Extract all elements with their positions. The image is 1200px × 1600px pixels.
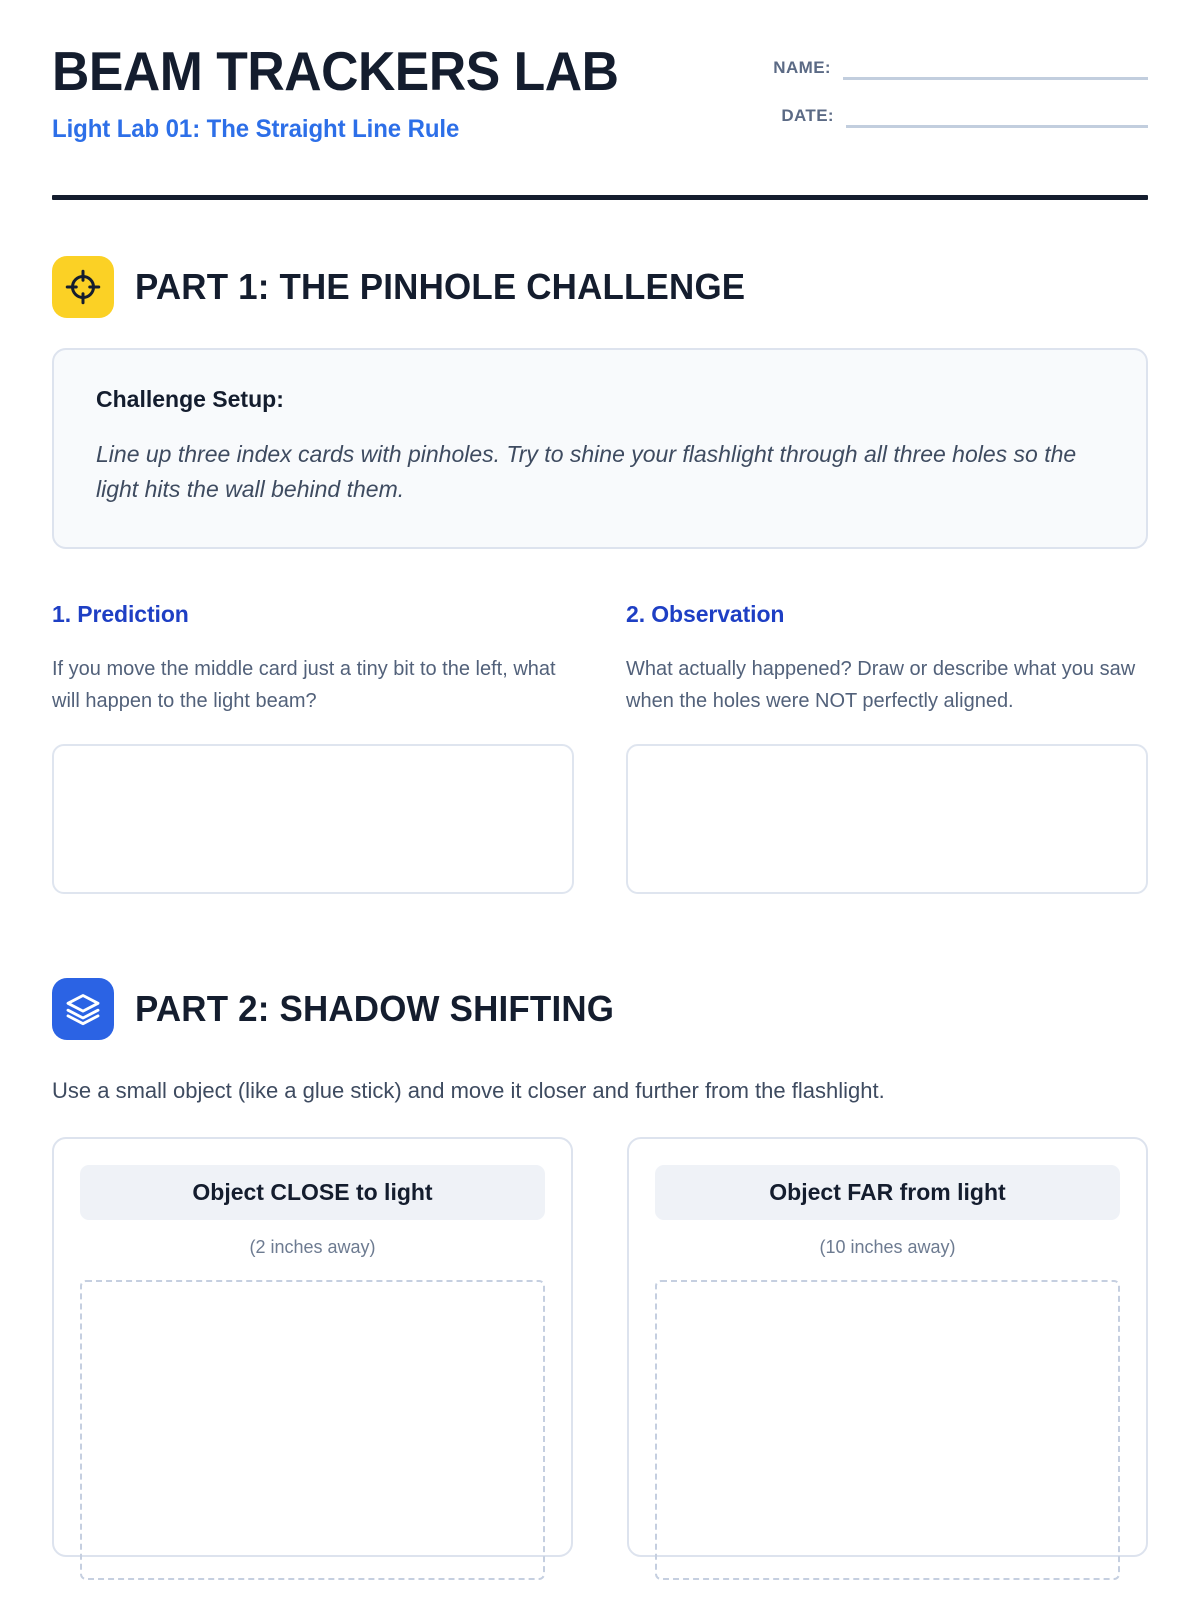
prediction-prompt: If you move the middle card just a tiny …: [52, 654, 574, 717]
name-input-line[interactable]: [843, 77, 1148, 80]
part1-question-grid: 1. Prediction If you move the middle car…: [52, 601, 1148, 894]
challenge-setup-label: Challenge Setup:: [96, 386, 1104, 413]
part2-heading: PART 2: SHADOW SHIFTING: [135, 988, 614, 1030]
observation-title: 2. Observation: [626, 601, 1148, 628]
prediction-title: 1. Prediction: [52, 601, 574, 628]
observation-answer-box[interactable]: [626, 744, 1148, 894]
layers-stack-icon: [52, 978, 114, 1040]
close-object-title: Object CLOSE to light: [80, 1165, 545, 1220]
header-divider: [52, 195, 1148, 200]
part1-header: PART 1: THE PINHOLE CHALLENGE: [52, 256, 1148, 318]
title-block: BEAM TRACKERS LAB Light Lab 01: The Stra…: [52, 44, 655, 144]
far-object-drawing-area[interactable]: [655, 1280, 1120, 1580]
page-title: BEAM TRACKERS LAB: [52, 44, 618, 99]
worksheet-header: BEAM TRACKERS LAB Light Lab 01: The Stra…: [52, 0, 1148, 154]
far-object-title: Object FAR from light: [655, 1165, 1120, 1220]
part2-header: PART 2: SHADOW SHIFTING: [52, 978, 1148, 1040]
close-object-drawing-area[interactable]: [80, 1280, 545, 1580]
date-input-line[interactable]: [846, 125, 1148, 128]
prediction-answer-box[interactable]: [52, 744, 574, 894]
challenge-setup-text: Line up three index cards with pinholes.…: [96, 437, 1096, 507]
worksheet-page: BEAM TRACKERS LAB Light Lab 01: The Stra…: [0, 0, 1200, 1600]
date-field-row: DATE:: [748, 106, 1148, 128]
close-object-distance: (2 inches away): [80, 1237, 545, 1258]
far-object-card: Object FAR from light (10 inches away): [627, 1137, 1148, 1557]
prediction-column: 1. Prediction If you move the middle car…: [52, 601, 574, 894]
page-subtitle: Light Lab 01: The Straight Line Rule: [52, 115, 631, 144]
observation-column: 2. Observation What actually happened? D…: [626, 601, 1148, 894]
student-identity-block: NAME: DATE:: [748, 44, 1148, 154]
shadow-compare-grid: Object CLOSE to light (2 inches away) Ob…: [52, 1137, 1148, 1557]
crosshair-target-icon: [52, 256, 114, 318]
name-field-row: NAME:: [748, 58, 1148, 80]
close-object-card: Object CLOSE to light (2 inches away): [52, 1137, 573, 1557]
challenge-setup-box: Challenge Setup: Line up three index car…: [52, 348, 1148, 549]
part1-heading: PART 1: THE PINHOLE CHALLENGE: [135, 266, 745, 308]
far-object-distance: (10 inches away): [655, 1237, 1120, 1258]
date-label: DATE:: [781, 106, 846, 128]
observation-prompt: What actually happened? Draw or describe…: [626, 654, 1148, 717]
name-label: NAME:: [773, 58, 843, 80]
part2-intro-text: Use a small object (like a glue stick) a…: [52, 1074, 1148, 1107]
